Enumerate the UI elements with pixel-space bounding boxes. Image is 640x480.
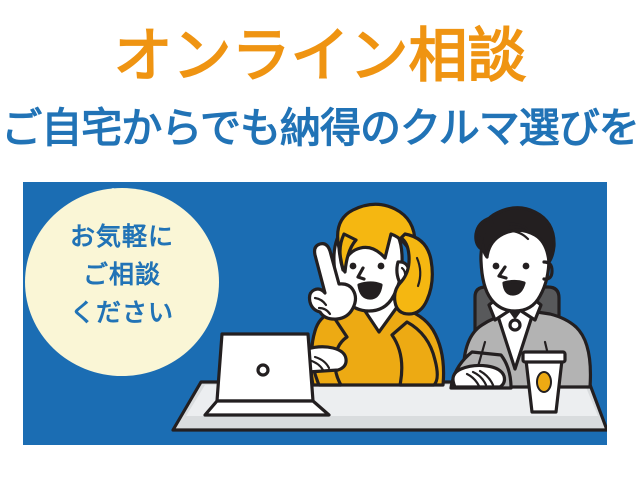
online-consultation-banner: オンライン相談 ご自宅からでも納得のクルマ選びを .ol { stroke:#2…	[0, 0, 640, 480]
page-title: オンライン相談	[0, 24, 640, 88]
status-badge: お気軽に ご相談 ください	[25, 188, 219, 376]
page-subtitle: ご自宅からでも納得のクルマ選びを	[0, 104, 640, 152]
title-area: オンライン相談 ご自宅からでも納得のクルマ選びを	[0, 0, 640, 175]
badge-label: お気軽に ご相談 ください	[25, 218, 219, 332]
laptop	[205, 334, 329, 415]
blue-panel: .ol { stroke:#231f20; stroke-width:3.2; …	[23, 182, 607, 445]
man-figure	[451, 208, 590, 388]
